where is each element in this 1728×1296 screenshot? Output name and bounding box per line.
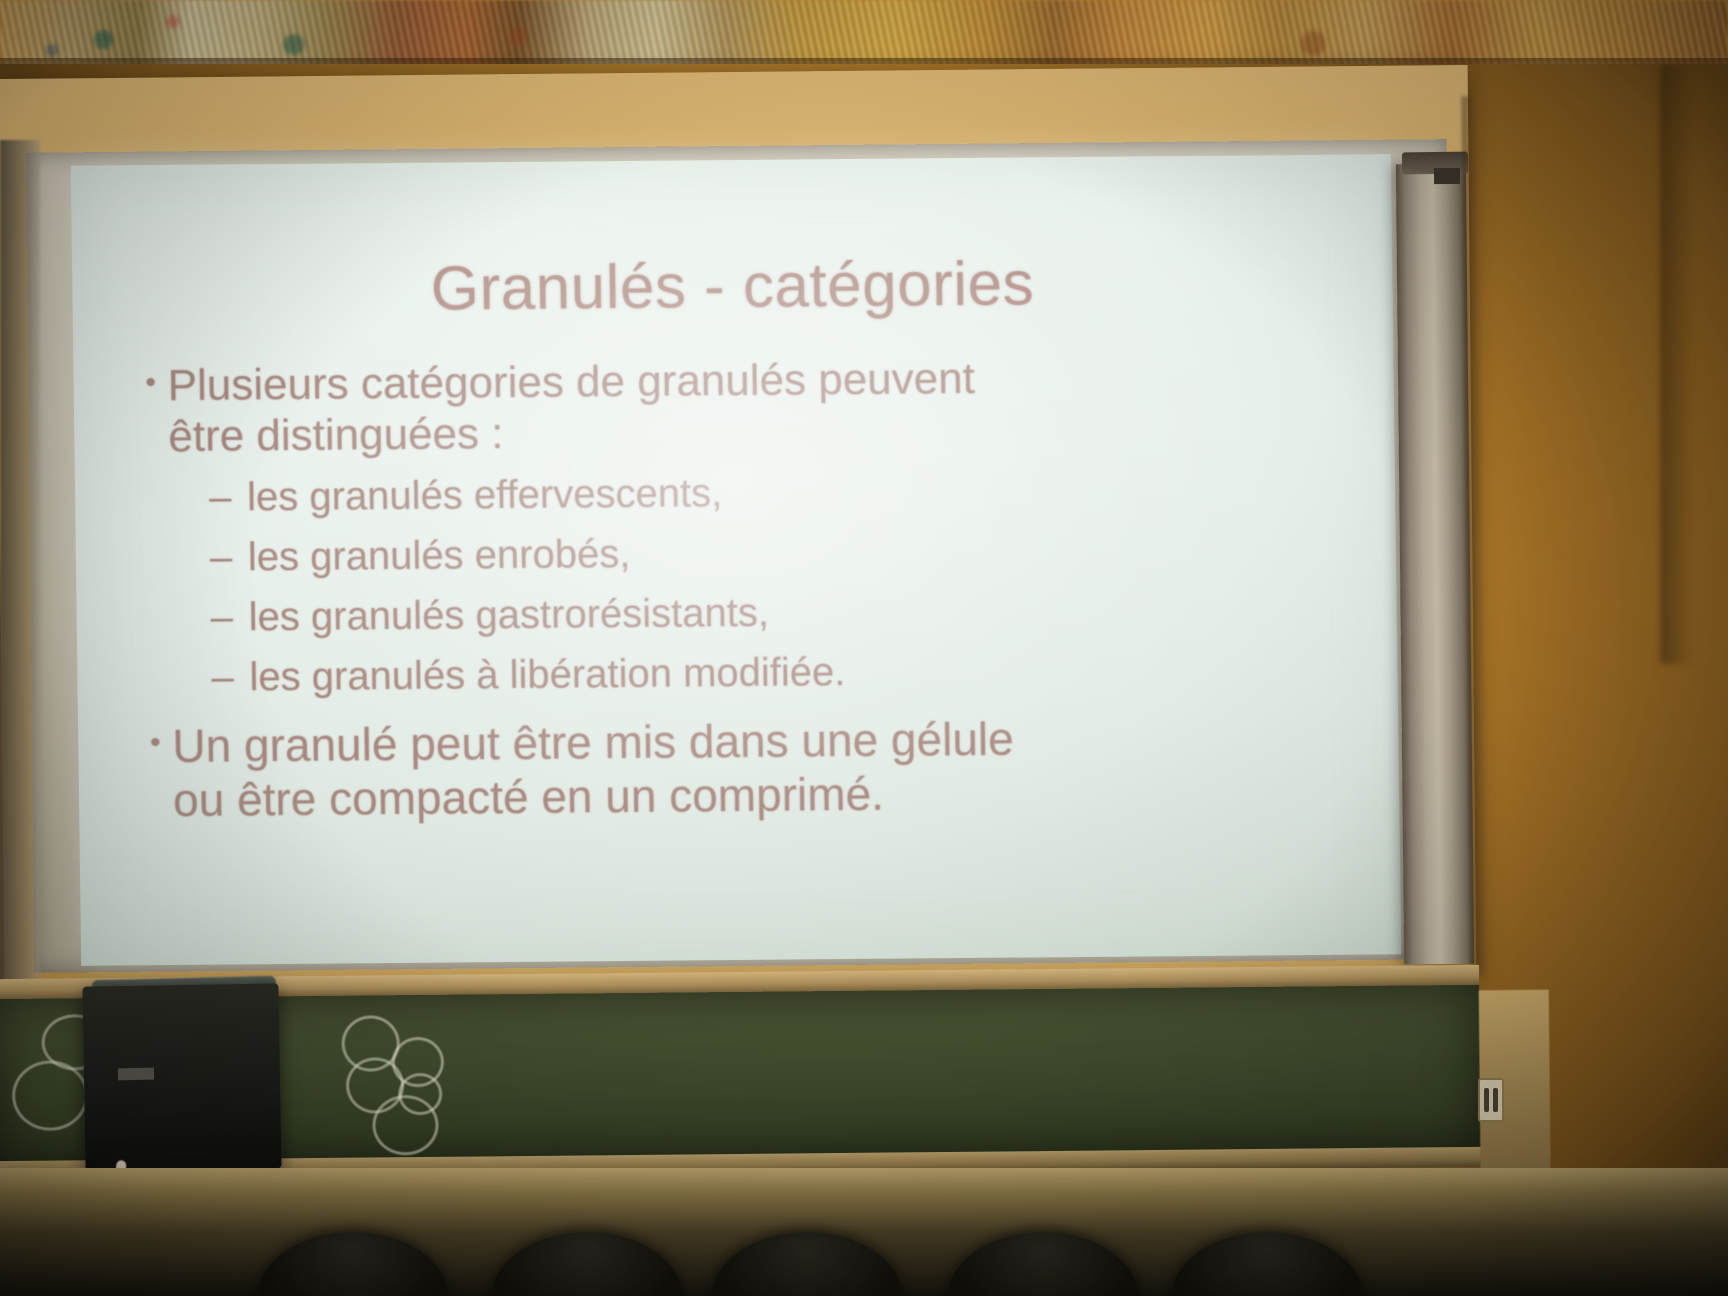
slide-title: Granulés - catégories (124, 249, 1341, 325)
sub-bullet-text: les granulés enrobés, (248, 524, 631, 587)
blind-bracket (1434, 168, 1460, 184)
foreground-desks-row (0, 1168, 1728, 1296)
sub-bullet-item: – les granulés enrobés, (210, 518, 1345, 588)
slide-content: Granulés - catégories • Plusieurs catégo… (71, 154, 1401, 965)
projector-vent (118, 1068, 154, 1081)
bullet-item: • Un granulé peut être mis dans une gélu… (138, 710, 1347, 827)
overhead-projector (82, 983, 281, 1171)
desk-silhouette (492, 1232, 682, 1296)
sub-bullet-item: – les granulés effervescents, (209, 458, 1344, 528)
power-socket (1478, 1078, 1504, 1122)
sub-bullet-text: les granulés gastrorésistants, (248, 583, 769, 648)
sub-bullet-text: les granulés à libération modifiée. (249, 642, 846, 707)
bullet-item: • Plusieurs catégories de granulés peuve… (133, 350, 1342, 463)
bullet-marker-icon: • (133, 360, 168, 405)
bullet-line: Plusieurs catégories de granulés peuvent (167, 354, 975, 410)
bullet-text: Plusieurs catégories de granulés peuvent… (167, 350, 1342, 462)
sub-bullet-item: – les granulés à libération modifiée. (211, 638, 1346, 708)
slide-bullet-list: • Plusieurs catégories de granulés peuve… (125, 350, 1347, 827)
wall-shadow-right (1660, 64, 1694, 664)
projection-screen: Granulés - catégories • Plusieurs catégo… (71, 154, 1401, 965)
sub-bullet-list: – les granulés effervescents, – les gran… (209, 458, 1346, 708)
desk-silhouette (258, 1232, 448, 1296)
bullet-line: ou être compacté en un comprimé. (173, 767, 884, 825)
bullet-line: Un granulé peut être mis dans une gélule (172, 713, 1014, 772)
sub-bullet-text: les granulés effervescents, (247, 463, 723, 527)
left-window-jamb (0, 140, 40, 980)
desk-silhouette (1172, 1232, 1362, 1296)
chalk-circle (12, 1060, 89, 1131)
bullet-text: Un granulé peut être mis dans une gélule… (172, 710, 1347, 827)
dash-marker-icon: – (209, 467, 248, 527)
bullet-marker-icon: • (138, 720, 173, 765)
chalk-circle (372, 1095, 439, 1156)
dash-marker-icon: – (211, 647, 250, 707)
desk-silhouette (948, 1232, 1138, 1296)
dash-marker-icon: – (210, 527, 249, 587)
classroom-photo-scene: Granulés - catégories • Plusieurs catégo… (0, 0, 1728, 1296)
sub-bullet-item: – les granulés gastrorésistants, (210, 578, 1345, 648)
dash-marker-icon: – (210, 587, 249, 647)
desk-silhouette (712, 1232, 902, 1296)
bullet-line: être distinguées : (168, 409, 504, 461)
